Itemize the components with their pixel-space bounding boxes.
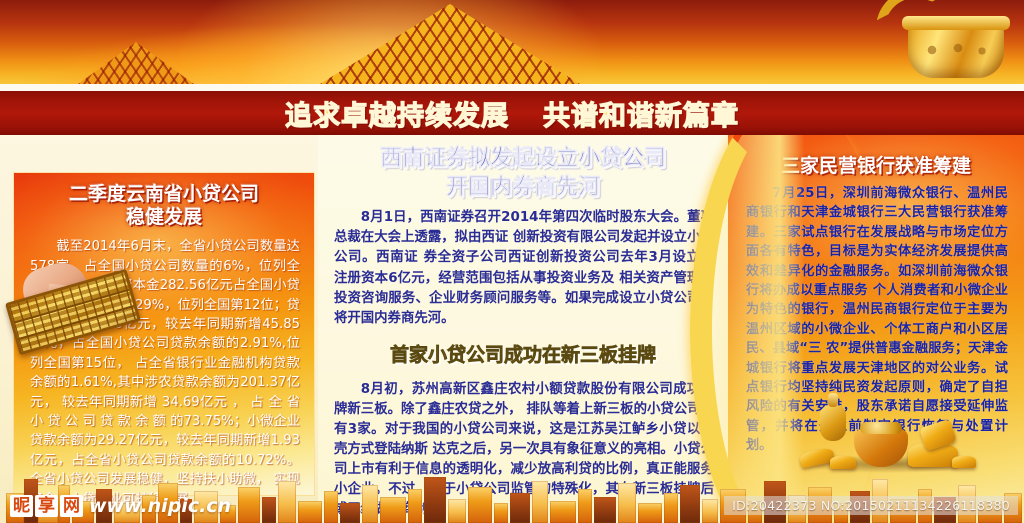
center-article1-title: 西南证券拟发起设立小贷公司 开国内券商先河 — [318, 135, 728, 202]
sky-header-image — [0, 0, 1024, 84]
image-id-label: ID:20422373 NO:20150211134226118380 — [724, 496, 1018, 515]
vessel-rim — [902, 16, 1010, 30]
banner-title: 追求卓越持续发展共谱和谐新篇章 — [285, 94, 739, 133]
nipic-logo: 昵 享 网 — [10, 495, 83, 517]
left-article-title-line2: 稳健发展 — [24, 206, 304, 229]
small-pyramid-icon — [78, 42, 194, 84]
center-article1-title-line2: 开国内券商先河 — [326, 174, 720, 203]
logo-char-2: 享 — [35, 495, 58, 517]
vessel-ornament — [918, 36, 996, 64]
logo-char-3: 网 — [60, 495, 83, 517]
left-article-title-line1: 二季度云南省小贷公司 — [24, 183, 304, 206]
golden-vessel-icon — [886, 0, 1006, 82]
pot-coins — [860, 422, 902, 434]
logo-char-1: 昵 — [10, 495, 33, 517]
vase-neck — [828, 393, 838, 407]
large-pyramid-icon — [320, 4, 580, 84]
poster-body: 西南证券拟发起设立小贷公司 开国内券商先河 8月1日，西南证券召开2014年第四… — [0, 135, 1024, 523]
gold-vase-icon — [820, 405, 846, 441]
watermark-url: www.nipic.cn — [89, 495, 231, 517]
center-article1-title-line1: 西南证券拟发起设立小贷公司 — [326, 145, 720, 174]
header-divider — [0, 84, 1024, 91]
gold-ingots-image — [796, 407, 982, 469]
center-article1-body: 8月1日，西南证券召开2014年第四次临时股东大会。董事总裁在大会上透露，拟由西… — [318, 202, 728, 329]
poster-canvas: 追求卓越持续发展共谱和谐新篇章 西南证券拟发起设立小贷公司 开国内券商先河 8月… — [0, 0, 1024, 523]
banner-title-left: 追求卓越持续发展 — [285, 101, 509, 132]
hand-abacus-image — [2, 267, 142, 359]
left-article-title: 二季度云南省小贷公司 稳健发展 — [14, 173, 314, 229]
watermark: 昵 享 网 www.nipic.cn — [10, 495, 231, 517]
banner-title-right: 共谱和谐新篇章 — [543, 101, 739, 132]
headline-banner: 追求卓越持续发展共谱和谐新篇章 — [0, 91, 1024, 135]
center-article2-title: 首家小贷公司成功在新三板挂牌 — [318, 329, 728, 374]
